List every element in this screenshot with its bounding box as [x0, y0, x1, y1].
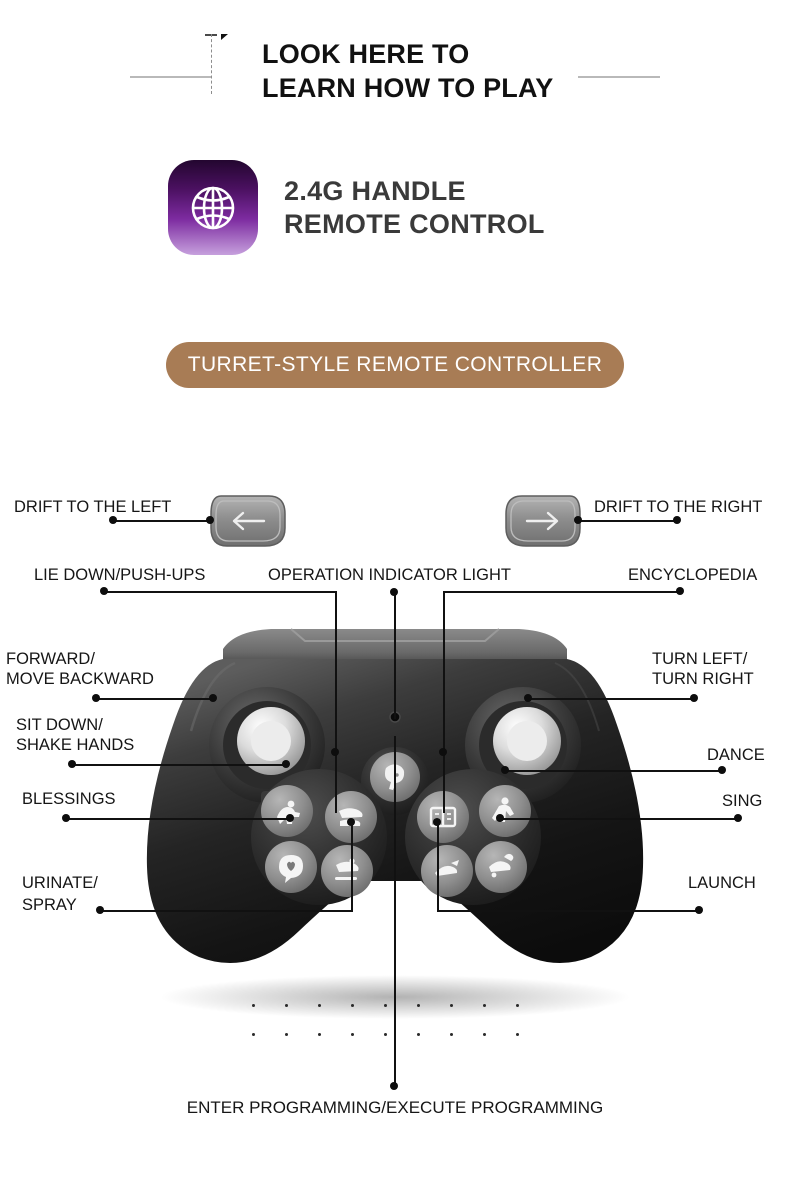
brand-badge: [168, 160, 258, 255]
page-headline: LOOK HERE TO LEARN HOW TO PLAY: [262, 38, 732, 106]
callout-label-programming: ENTER PROGRAMMING/EXECUTE PROGRAMMING: [0, 1098, 790, 1118]
brand-title: 2.4G HANDLE REMOTE CONTROL: [284, 175, 545, 241]
callout-label-urinate-line2: SPRAY: [22, 896, 77, 916]
callout-label-blessings: BLESSINGS: [22, 790, 116, 810]
face-button-dance[interactable]: [479, 785, 531, 837]
leader-dot-launch: [695, 906, 703, 914]
leader-line-indicator: [394, 594, 396, 719]
leader-dot-programming: [390, 1082, 398, 1090]
callout-label-sit-line1: SIT DOWN/: [16, 716, 103, 736]
leader-dot-sit-target: [282, 760, 290, 768]
leader-line-launch-h: [437, 910, 699, 912]
leader-line-urinate-h: [100, 910, 352, 912]
shoulder-button-left[interactable]: [207, 492, 289, 550]
leader-line-launch-v: [437, 822, 439, 912]
leader-dot-encyclopedia-target: [439, 748, 447, 756]
leader-dot-urinate: [96, 906, 104, 914]
leader-dot-turn: [690, 694, 698, 702]
callout-label-encyclopedia: ENCYCLOPEDIA: [628, 566, 757, 586]
leader-line-drift-right: [578, 520, 677, 522]
leader-dot-blessings: [62, 814, 70, 822]
leader-line-programming: [394, 736, 396, 1088]
leader-dot-drift-right-outer: [673, 516, 681, 524]
brand-block: 2.4G HANDLE REMOTE CONTROL: [168, 160, 545, 255]
face-button-sit-shake[interactable]: [261, 785, 313, 837]
leader-line-lie-down-v: [335, 591, 337, 813]
leader-line-forward: [96, 698, 213, 700]
leader-dot-sing: [734, 814, 742, 822]
callout-label-dance: DANCE: [707, 746, 765, 766]
arrow-marker-icon: [221, 34, 228, 40]
leader-dot-sing-target: [496, 814, 504, 822]
dashed-vertical-line: [211, 34, 212, 94]
leader-line-urinate-v: [351, 822, 353, 912]
callout-label-sit-line2: SHAKE HANDS: [16, 736, 134, 756]
callout-label-turn-line1: TURN LEFT/: [652, 650, 747, 670]
leader-line-encyclopedia-h: [443, 591, 680, 593]
face-button-blessings[interactable]: [265, 841, 317, 893]
callout-label-sing: SING: [722, 792, 762, 812]
controller-diagram: DRIFT TO THE LEFT DRIFT TO THE RIGHT: [0, 470, 790, 1130]
callout-label-turn-line2: TURN RIGHT: [652, 670, 754, 690]
headline-line-2: LEARN HOW TO PLAY: [262, 72, 732, 106]
leader-dot-launch-target: [433, 818, 441, 826]
leader-line-blessings: [66, 818, 290, 820]
leader-line-sing: [500, 818, 738, 820]
leader-line-drift-left: [113, 520, 212, 522]
callout-label-forward-line2: MOVE BACKWARD: [6, 670, 154, 690]
face-button-urinate[interactable]: [321, 845, 373, 897]
leader-dot-drift-left-outer: [109, 516, 117, 524]
leader-dot-lie-down: [100, 587, 108, 595]
header-rule-left: [130, 76, 212, 78]
leader-dot-sit: [68, 760, 76, 768]
product-type-banner: TURRET-STYLE REMOTE CONTROLLER: [166, 342, 624, 388]
brand-title-line-2: REMOTE CONTROL: [284, 208, 545, 241]
leader-line-encyclopedia-v: [443, 591, 445, 813]
callout-label-lie-down: LIE DOWN/PUSH-UPS: [34, 566, 205, 586]
globe-icon: [187, 182, 239, 234]
leader-line-sit: [72, 764, 286, 766]
callout-label-indicator: OPERATION INDICATOR LIGHT: [268, 566, 511, 586]
callout-label-drift-left: DRIFT TO THE LEFT: [14, 498, 171, 518]
callout-label-drift-right: DRIFT TO THE RIGHT: [594, 498, 762, 518]
leader-dot-lie-down-target: [331, 748, 339, 756]
face-button-sing[interactable]: [475, 841, 527, 893]
callout-label-urinate-line1: URINATE/: [22, 874, 98, 894]
leader-dot-drift-right-inner: [574, 516, 582, 524]
leader-line-dance: [505, 770, 722, 772]
leader-dot-forward-target: [209, 694, 217, 702]
infographic-page: LOOK HERE TO LEARN HOW TO PLAY 2.4G HAND…: [0, 0, 790, 1181]
callout-label-launch: LAUNCH: [688, 874, 756, 894]
headline-line-1: LOOK HERE TO: [262, 38, 732, 72]
leader-line-lie-down-h: [104, 591, 336, 593]
leader-dot-urinate-target: [347, 818, 355, 826]
leader-dot-indicator: [390, 588, 398, 596]
leader-dot-turn-target: [524, 694, 532, 702]
face-button-launch[interactable]: [421, 845, 473, 897]
leader-dot-drift-left-inner: [206, 516, 214, 524]
leader-dot-dance: [718, 766, 726, 774]
shoulder-button-right[interactable]: [502, 492, 584, 550]
callout-label-forward-line1: FORWARD/: [6, 650, 95, 670]
leader-dot-dance-target: [501, 766, 509, 774]
leader-dot-blessings-target: [286, 814, 294, 822]
brand-title-line-1: 2.4G HANDLE: [284, 175, 545, 208]
leader-line-turn: [528, 698, 694, 700]
leader-dot-forward: [92, 694, 100, 702]
leader-dot-encyclopedia: [676, 587, 684, 595]
